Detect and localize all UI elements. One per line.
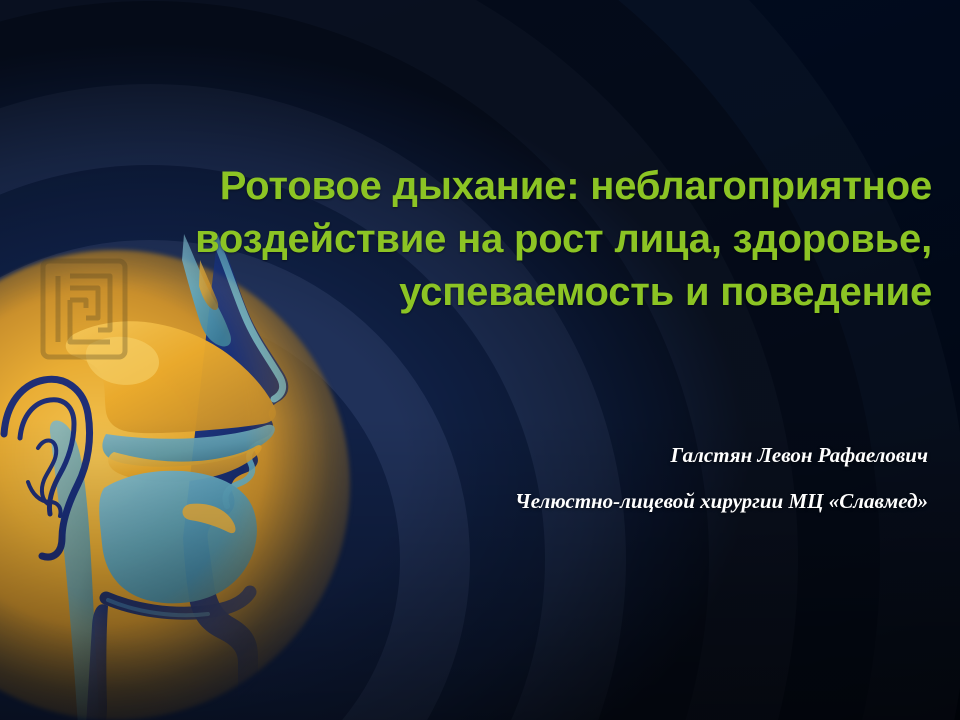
title-slide: Ротовое дыхание: неблагоприятное воздейс… [0,0,960,720]
author-name: Галстян Левон Рафаелович [330,432,928,478]
ring-band-4 [0,1,709,720]
concentric-rings-decoration [0,0,960,720]
title-line-3: успеваемость и поведение [120,266,932,319]
title-line-1: Ротовое дыхание: неблагоприятное [120,160,932,213]
author-affiliation: Челюстно-лицевой хирургии МЦ «Славмед» [330,478,928,524]
ring-band-6 [0,0,880,720]
title-line-2: воздействие на рост лица, здоровье, [120,213,932,266]
ring-band-7 [0,0,960,720]
page-title: Ротовое дыхание: неблагоприятное воздейс… [120,160,932,319]
subtitle: Галстян Левон Рафаелович Челюстно-лицево… [330,432,928,524]
ring-band-5 [0,0,798,720]
